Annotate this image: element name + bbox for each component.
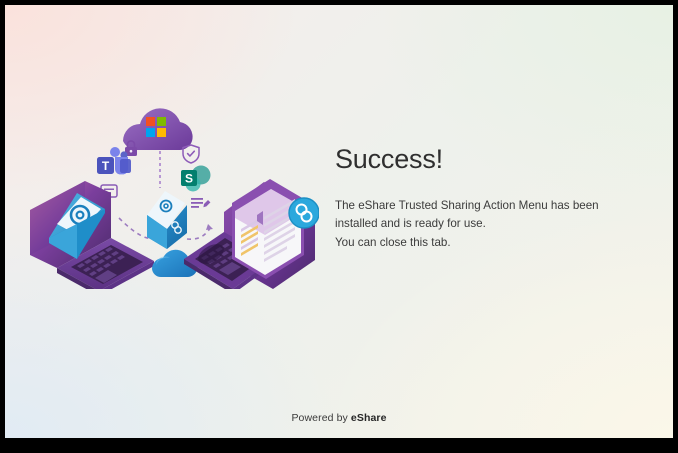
page-canvas: T S	[5, 5, 673, 438]
secure-envelope-icon	[147, 191, 187, 249]
page-description: The eShare Trusted Sharing Action Menu h…	[335, 175, 640, 253]
eshare-badge-icon	[289, 198, 319, 228]
svg-text:S: S	[185, 172, 193, 186]
description-line-1: The eShare Trusted Sharing Action Menu h…	[335, 199, 599, 231]
window-frame: T S	[0, 0, 678, 453]
svg-text:T: T	[102, 159, 110, 173]
powered-by-label: Powered by	[291, 412, 350, 424]
brand-name: eShare	[351, 412, 387, 424]
message-block: Success! The eShare Trusted Sharing Acti…	[335, 145, 655, 253]
microsoft-365-secure-sharing-illustration: T S	[19, 93, 319, 289]
sharepoint-icon: S	[181, 166, 211, 192]
illustration-container: T S	[19, 93, 319, 289]
description-line-2: You can close this tab.	[335, 234, 640, 253]
page-title: Success!	[335, 145, 655, 175]
footer: Powered by eShare	[5, 412, 673, 424]
left-laptop	[30, 181, 154, 289]
document-edit-icon	[191, 198, 210, 208]
flow-arrow-head	[206, 224, 213, 230]
microsoft-cloud-icon	[123, 108, 193, 150]
